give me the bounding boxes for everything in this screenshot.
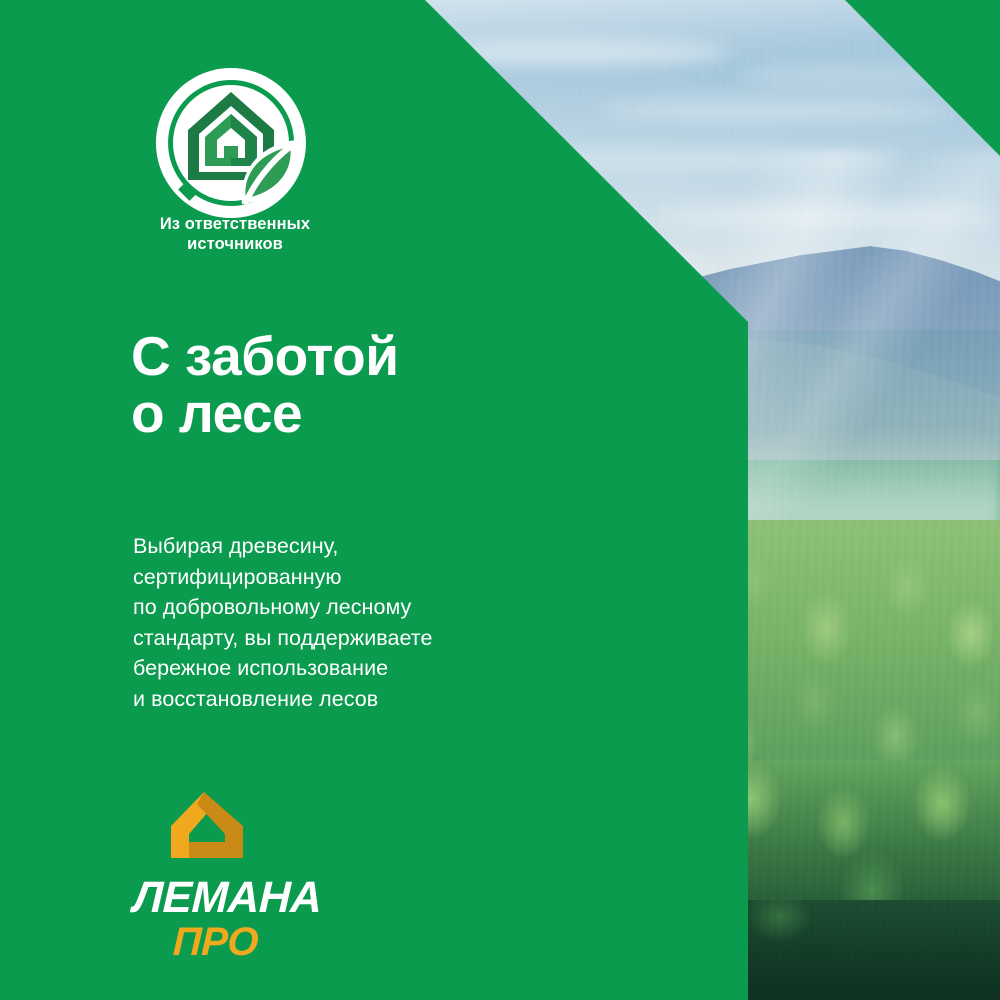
lemana-house-icon [171,792,243,870]
poster-content: Из ответственных источников С заботой о … [0,0,1000,1000]
badge-caption: Из ответственных источников [130,214,340,254]
body-paragraph: Выбирая древесину, сертифицированную по … [133,531,432,714]
brand-logo: ЛЕМАНА ПРО [133,792,313,962]
poster-canvas: Из ответственных источников С заботой о … [0,0,1000,1000]
brand-subtitle: ПРО [172,922,313,962]
responsible-sources-seal-icon [150,62,312,224]
brand-name: ЛЕМАНА [132,876,314,920]
page-title: С заботой о лесе [131,328,399,441]
